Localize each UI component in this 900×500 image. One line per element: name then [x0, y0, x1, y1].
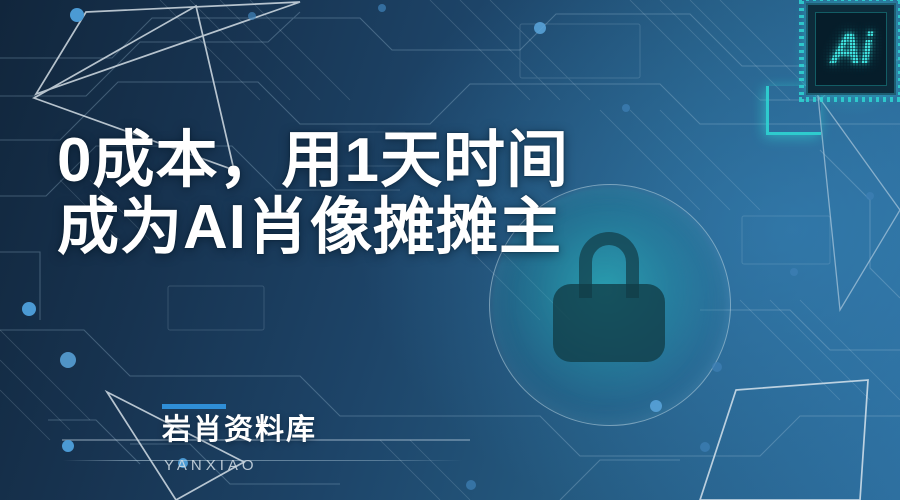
ai-chip-logo: Ai [806, 3, 896, 95]
decor-dot [60, 352, 76, 368]
chip-frame: Ai [806, 3, 896, 95]
headline-line-2: 成为AI肖像摊摊主 [57, 195, 857, 262]
decor-dot [70, 8, 84, 22]
decor-dot [466, 480, 476, 490]
decor-dot [534, 22, 546, 34]
brand-name-en: YANXIAO [164, 457, 317, 474]
decor-dot [712, 362, 722, 372]
decor-dot [650, 400, 662, 412]
decor-dot [378, 4, 386, 12]
decor-dot [62, 440, 74, 452]
ai-logo-label: Ai [816, 13, 886, 85]
brand-name-cn: 岩肖资料库 [162, 415, 317, 447]
decor-dot [22, 302, 36, 316]
chip-inner: Ai [815, 12, 887, 86]
brand-accent-bar [162, 404, 226, 409]
decor-dot [248, 12, 256, 20]
headline: 0成本，用1天时间 成为AI肖像摊摊主 [57, 128, 857, 262]
brand-lockup: 岩肖资料库 YANXIAO [162, 404, 317, 474]
headline-line-1: 0成本，用1天时间 [57, 128, 857, 195]
poster-canvas: Ai 0成本，用1天时间 成为AI肖像摊摊主 岩肖资料库 YANXIAO [0, 0, 900, 500]
decor-dot [700, 442, 710, 452]
decor-dot [866, 192, 874, 200]
decor-dot [790, 268, 798, 276]
decor-dot [622, 104, 630, 112]
